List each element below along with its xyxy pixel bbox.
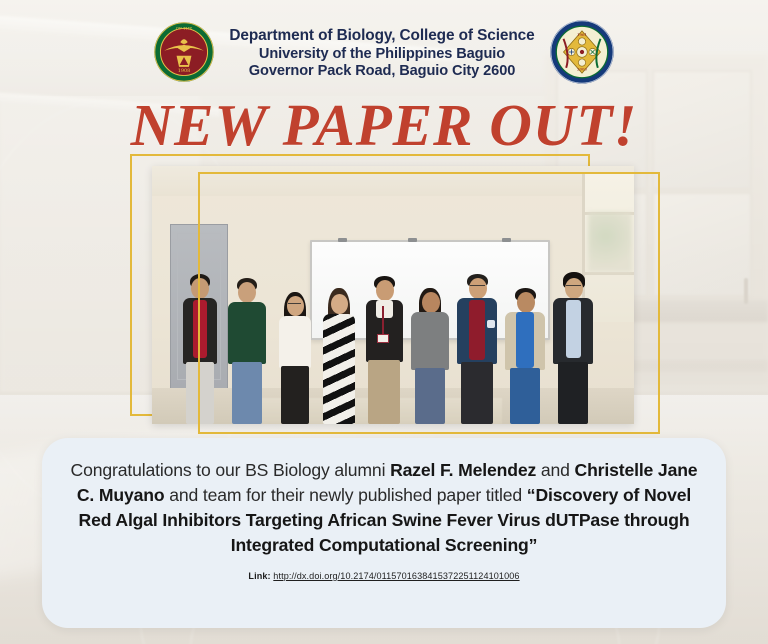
doi-link[interactable]: http://dx.doi.org/10.2174/01157016384153… [273, 571, 519, 581]
svg-text:2003: 2003 [577, 66, 588, 71]
photo-person [224, 272, 270, 424]
whiteboard-clip [408, 238, 417, 242]
poster-canvas: 1908 OF THE Department of Biology, Colle… [0, 0, 768, 644]
upb-college-of-science-seal-icon: 1961 2003 [549, 19, 615, 90]
header-text-block: Department of Biology, College of Scienc… [229, 27, 534, 81]
photo-person [550, 272, 596, 424]
announcement-text-plain: and team for their newly published paper… [164, 485, 526, 505]
photo-block [152, 158, 634, 428]
photo-person [408, 274, 452, 424]
header-line-address: Governor Pack Road, Baguio City 2600 [229, 63, 534, 81]
photo-person [502, 274, 548, 424]
photo-person [274, 276, 316, 424]
header-line-university: University of the Philippines Baguio [229, 46, 534, 64]
photo-person [318, 274, 360, 424]
svg-text:1961: 1961 [577, 32, 587, 37]
photo-ceiling [152, 166, 634, 196]
announcement-text-plain: Congratulations to our BS Biology alumni [71, 460, 391, 480]
photo-person [362, 272, 406, 424]
link-label: Link: [248, 571, 270, 581]
svg-text:1908: 1908 [178, 67, 191, 73]
announcement-text-plain: and [536, 460, 574, 480]
whiteboard-clip [502, 238, 511, 242]
photo-person [178, 274, 222, 424]
group-photo [152, 166, 634, 424]
photo-foliage [588, 212, 632, 272]
up-seal-icon: 1908 OF THE [153, 21, 215, 88]
announcement-card: Congratulations to our BS Biology alumni… [42, 438, 726, 628]
svg-text:OF THE: OF THE [176, 25, 193, 30]
poster-header: 1908 OF THE Department of Biology, Colle… [0, 8, 768, 100]
announcement-text-bold: Razel F. Melendez [390, 460, 536, 480]
whiteboard-clip [338, 238, 347, 242]
page-title: NEW PAPER OUT! [0, 96, 768, 155]
link-row: Link: http://dx.doi.org/10.2174/01157016… [248, 571, 519, 581]
photo-person [454, 272, 500, 424]
announcement-text: Congratulations to our BS Biology alumni… [60, 458, 708, 558]
header-line-department: Department of Biology, College of Scienc… [229, 27, 534, 46]
